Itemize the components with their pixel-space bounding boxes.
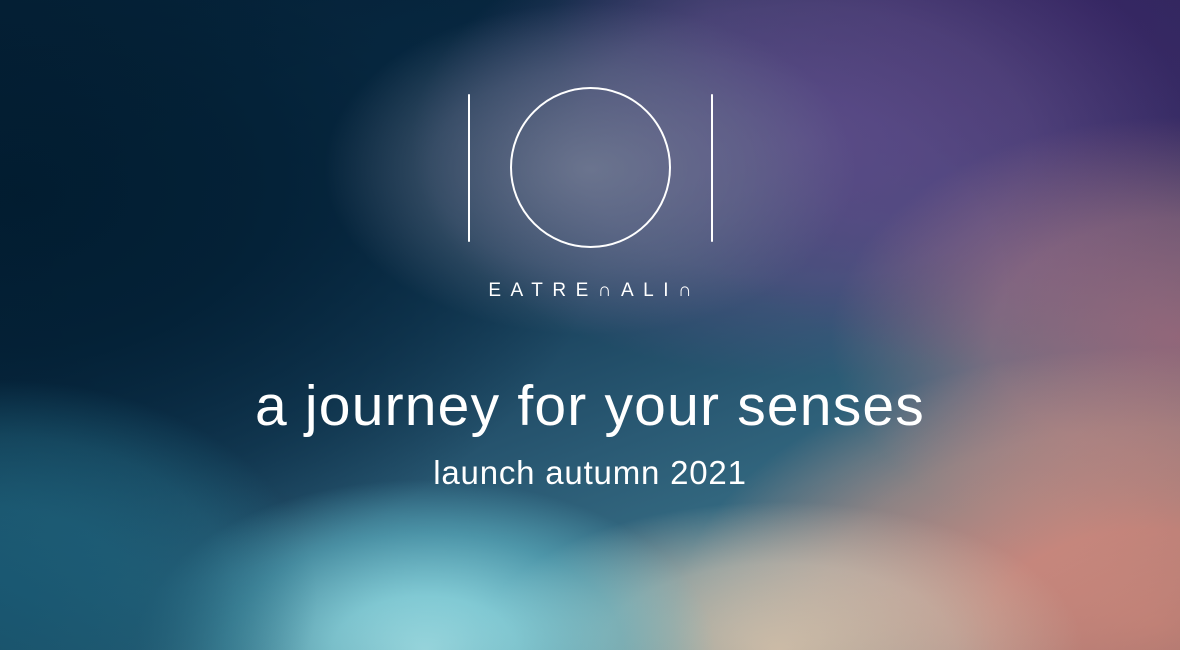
hero-content: EATRE∩ALI∩ a journey for your senses lau… xyxy=(0,0,1180,650)
hero-subheadline: launch autumn 2021 xyxy=(0,455,1180,491)
emblem-left-bar-icon xyxy=(468,94,470,242)
brand-wordmark: EATRE∩ALI∩ xyxy=(0,281,1180,300)
emblem-right-bar-icon xyxy=(711,94,713,242)
hero-headline: a journey for your senses xyxy=(0,377,1180,437)
brand-emblem-icon xyxy=(0,87,1180,248)
hero-banner: EATRE∩ALI∩ a journey for your senses lau… xyxy=(0,0,1180,650)
emblem-circle-icon xyxy=(510,87,671,248)
